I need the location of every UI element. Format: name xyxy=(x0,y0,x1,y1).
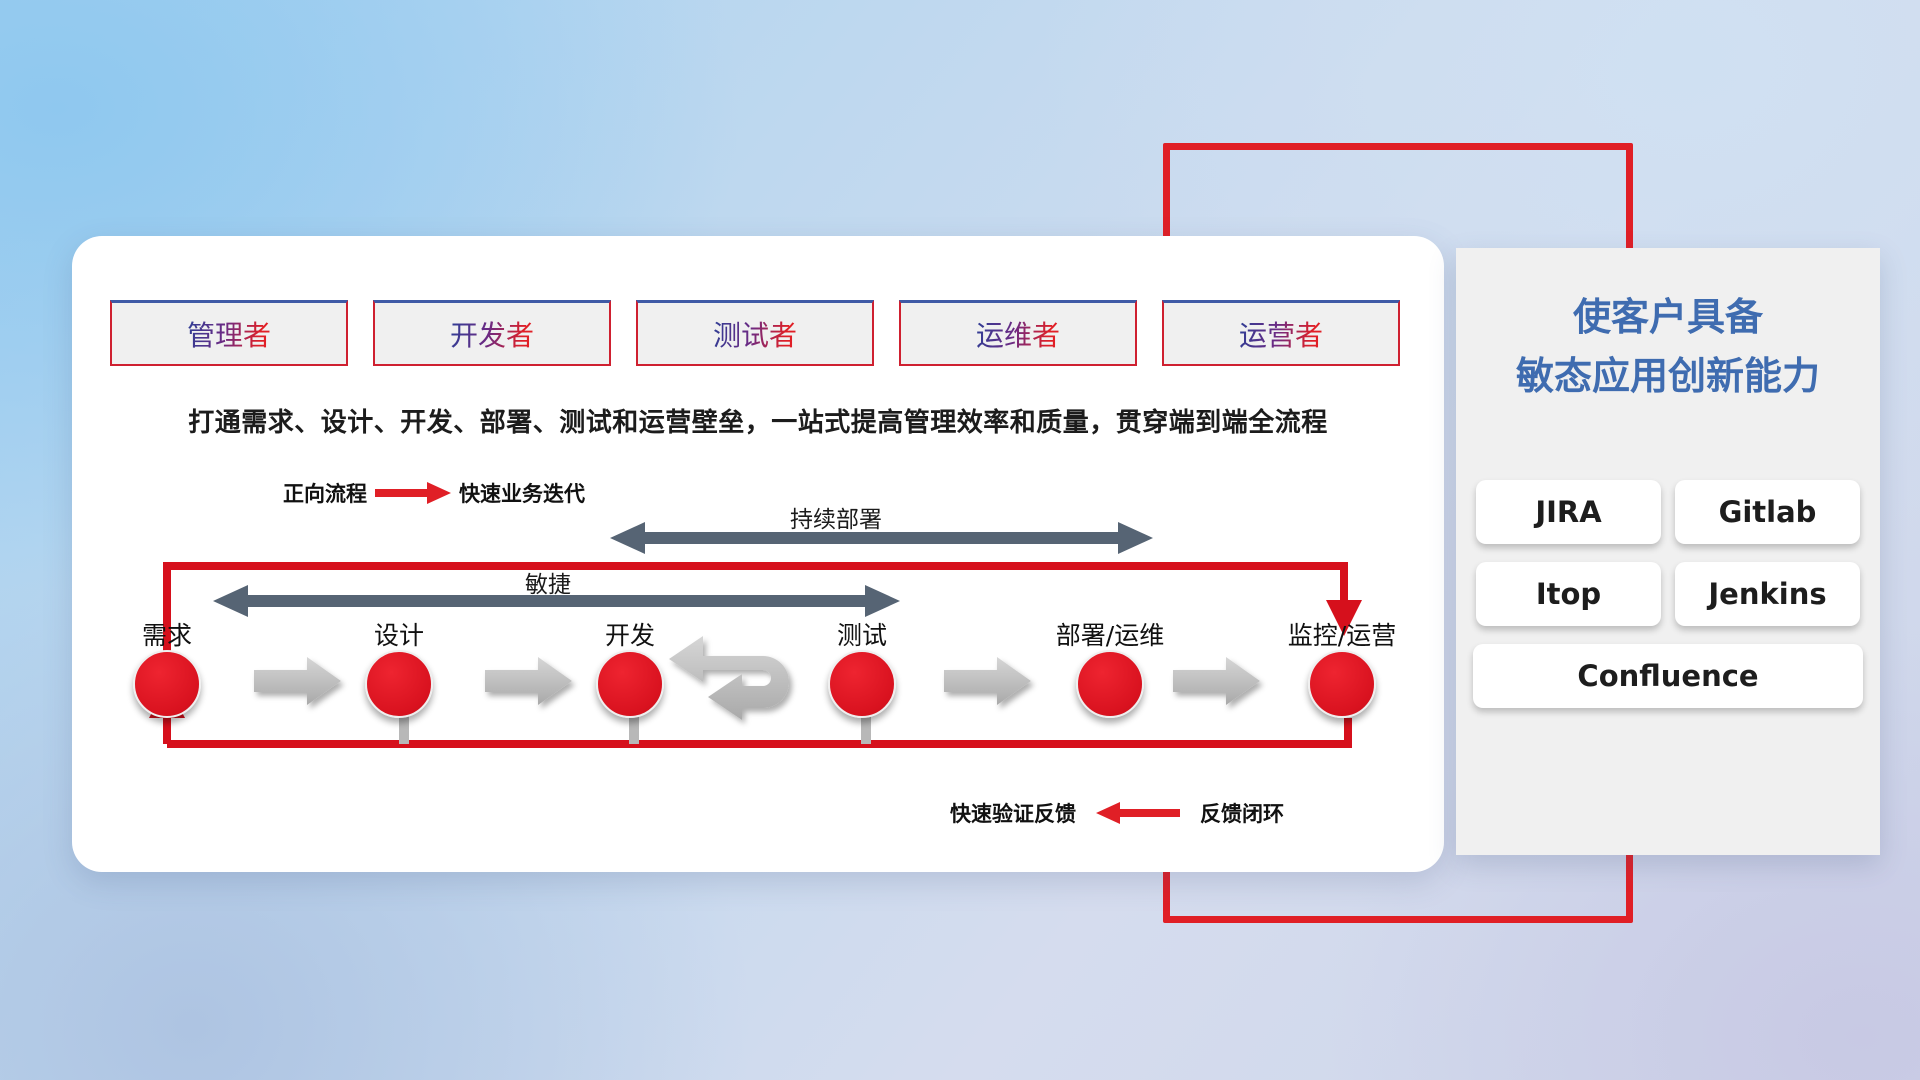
span-label-continuous-deployment: 持续部署 xyxy=(790,500,882,534)
span-label-agile: 敏捷 xyxy=(525,565,571,599)
tool-chip-confluence[interactable]: Confluence xyxy=(1473,644,1863,708)
role-label: 管理者 xyxy=(187,314,271,354)
role-box-tester[interactable]: 测试者 xyxy=(636,300,874,366)
node-label-develop: 开发 xyxy=(605,616,655,652)
role-box-manager[interactable]: 管理者 xyxy=(110,300,348,366)
tool-chip-jira[interactable]: JIRA xyxy=(1476,480,1661,544)
panel-title-line1: 使客户具备 xyxy=(1456,288,1880,347)
legend-feedback-to: 反馈闭环 xyxy=(1200,798,1284,828)
tool-chip-list: JIRA Gitlab Itop Jenkins Confluence xyxy=(1462,480,1874,708)
role-box-operations[interactable]: 运营者 xyxy=(1162,300,1400,366)
role-box-developer[interactable]: 开发者 xyxy=(373,300,611,366)
legend-forward-from: 正向流程 xyxy=(283,478,367,508)
role-label: 测试者 xyxy=(713,314,797,354)
legend-forward-to: 快速业务迭代 xyxy=(459,478,585,508)
role-label: 运维者 xyxy=(976,314,1060,354)
description-text: 打通需求、设计、开发、部署、测试和运营壁垒，一站式提高管理效率和质量，贯穿端到端… xyxy=(0,402,1516,439)
legend-forward-arrow-icon xyxy=(375,482,451,504)
legend-feedback-from: 快速验证反馈 xyxy=(950,798,1076,828)
panel-title-line2: 敏态应用创新能力 xyxy=(1456,347,1880,406)
tool-chip-itop[interactable]: Itop xyxy=(1476,562,1661,626)
node-circle-develop[interactable] xyxy=(596,650,664,718)
tool-chip-gitlab[interactable]: Gitlab xyxy=(1675,480,1860,544)
role-label: 运营者 xyxy=(1239,314,1323,354)
node-circle-requirement[interactable] xyxy=(133,650,201,718)
legend-feedback-arrow-icon xyxy=(1096,802,1180,824)
node-label-monitor-ops: 监控/运营 xyxy=(1288,616,1396,652)
node-label-requirement: 需求 xyxy=(142,616,192,652)
panel-title: 使客户具备 敏态应用创新能力 xyxy=(1456,288,1880,406)
legend-feedback-loop: 快速验证反馈 反馈闭环 xyxy=(950,798,1284,828)
node-circle-monitor-ops[interactable] xyxy=(1308,650,1376,718)
role-box-ops[interactable]: 运维者 xyxy=(899,300,1137,366)
node-circle-design[interactable] xyxy=(365,650,433,718)
node-label-design: 设计 xyxy=(374,616,424,652)
role-box-row: 管理者 开发者 测试者 运维者 运营者 xyxy=(110,300,1400,368)
legend-forward-flow: 正向流程 快速业务迭代 xyxy=(283,478,585,508)
role-label: 开发者 xyxy=(450,314,534,354)
node-label-test: 测试 xyxy=(837,616,887,652)
node-label-deploy-ops: 部署/运维 xyxy=(1056,616,1164,652)
node-circle-deploy-ops[interactable] xyxy=(1076,650,1144,718)
node-circle-test[interactable] xyxy=(828,650,896,718)
tool-chip-jenkins[interactable]: Jenkins xyxy=(1675,562,1860,626)
slide-canvas: 管理者 开发者 测试者 运维者 运营者 打通需求、设计、开发、部署、测试和运营壁… xyxy=(0,0,1920,1080)
